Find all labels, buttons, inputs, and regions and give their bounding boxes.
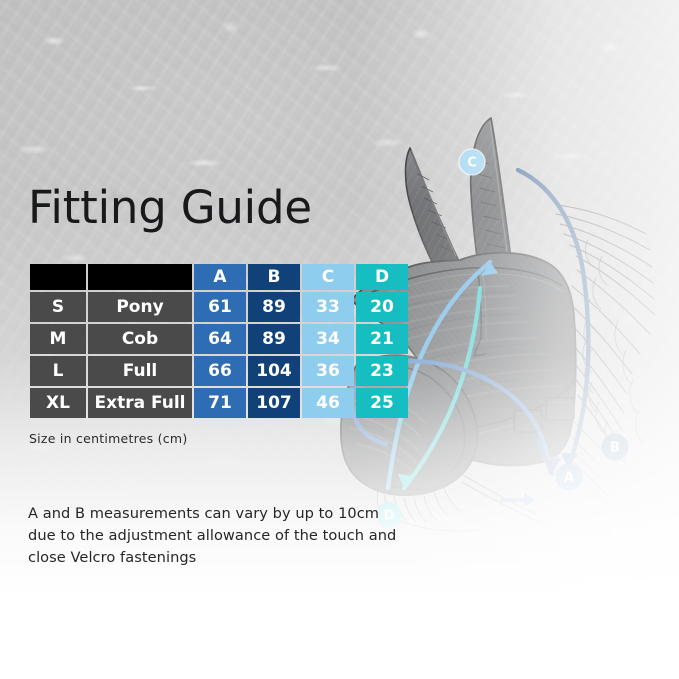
table-row: S Pony 61 89 33 20 <box>30 292 408 322</box>
table-row: XL Extra Full 71 107 46 25 <box>30 388 408 418</box>
row-value-d: 25 <box>356 388 408 418</box>
header-blank-name <box>88 264 192 290</box>
row-size-name: Pony <box>88 292 192 322</box>
header-column-d: D <box>356 264 408 290</box>
row-value-c: 36 <box>302 356 354 386</box>
row-size-code: M <box>30 324 86 354</box>
row-value-d: 20 <box>356 292 408 322</box>
row-value-a: 64 <box>194 324 246 354</box>
row-size-name: Extra Full <box>88 388 192 418</box>
row-value-a: 61 <box>194 292 246 322</box>
row-value-a: 71 <box>194 388 246 418</box>
table-row: L Full 66 104 36 23 <box>30 356 408 386</box>
size-chart-header: A B C D <box>30 264 408 290</box>
row-size-name: Full <box>88 356 192 386</box>
table-row: M Cob 64 89 34 21 <box>30 324 408 354</box>
row-size-code: L <box>30 356 86 386</box>
page-title: Fitting Guide <box>28 185 312 230</box>
table-units-note: Size in centimetres (cm) <box>29 431 187 446</box>
header-blank-size <box>30 264 86 290</box>
row-size-code: S <box>30 292 86 322</box>
row-value-b: 89 <box>248 292 300 322</box>
header-column-a: A <box>194 264 246 290</box>
row-value-b: 104 <box>248 356 300 386</box>
row-value-c: 33 <box>302 292 354 322</box>
row-value-d: 23 <box>356 356 408 386</box>
row-value-c: 34 <box>302 324 354 354</box>
row-value-d: 21 <box>356 324 408 354</box>
row-value-c: 46 <box>302 388 354 418</box>
table-header-row: A B C D <box>30 264 408 290</box>
size-chart-body: S Pony 61 89 33 20 M Cob 64 89 34 21 L F… <box>30 292 408 418</box>
measurement-disclaimer: A and B measurements can vary by up to 1… <box>28 503 398 569</box>
size-chart-table: A B C D S Pony 61 89 33 20 M Cob 64 89 3… <box>28 262 410 420</box>
row-size-name: Cob <box>88 324 192 354</box>
row-size-code: XL <box>30 388 86 418</box>
row-value-a: 66 <box>194 356 246 386</box>
row-value-b: 89 <box>248 324 300 354</box>
header-column-c: C <box>302 264 354 290</box>
header-column-b: B <box>248 264 300 290</box>
fitting-guide-page: C D A B Fitting Guide A B <box>0 0 679 679</box>
row-value-b: 107 <box>248 388 300 418</box>
